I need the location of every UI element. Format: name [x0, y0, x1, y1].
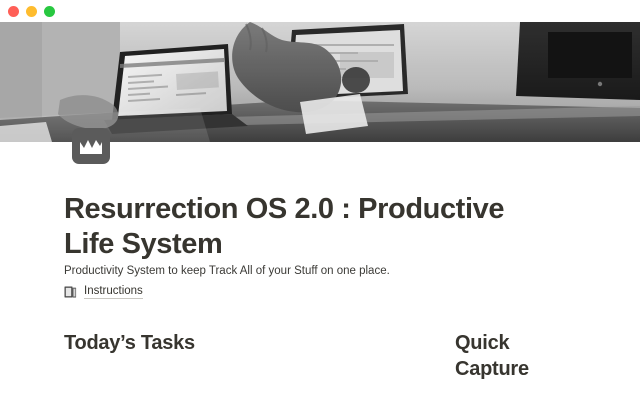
page-title[interactable]: Resurrection OS 2.0 : Productive Life Sy…	[64, 192, 534, 263]
close-button[interactable]	[8, 6, 19, 17]
page-subtitle[interactable]: Productivity System to keep Track All of…	[64, 263, 534, 280]
columns-container: Today’s Tasks Quick Capture	[0, 330, 640, 400]
minimize-button[interactable]	[26, 6, 37, 17]
instructions-link[interactable]: Instructions	[64, 285, 143, 299]
window-titlebar	[0, 0, 640, 22]
column-quick-capture: Quick Capture	[455, 330, 555, 383]
maximize-button[interactable]	[44, 6, 55, 17]
window-controls	[8, 6, 55, 17]
chart-zigzag-icon	[79, 137, 103, 155]
page-icon[interactable]	[72, 128, 110, 164]
instructions-label: Instructions	[84, 285, 143, 299]
page-cover-image[interactable]	[0, 22, 640, 142]
quick-capture-heading[interactable]: Quick Capture	[455, 330, 555, 383]
book-pages-icon	[64, 286, 77, 299]
cover-photo-graphic	[0, 22, 640, 142]
todays-tasks-heading[interactable]: Today’s Tasks	[64, 330, 394, 356]
column-todays-tasks: Today’s Tasks	[64, 330, 394, 356]
